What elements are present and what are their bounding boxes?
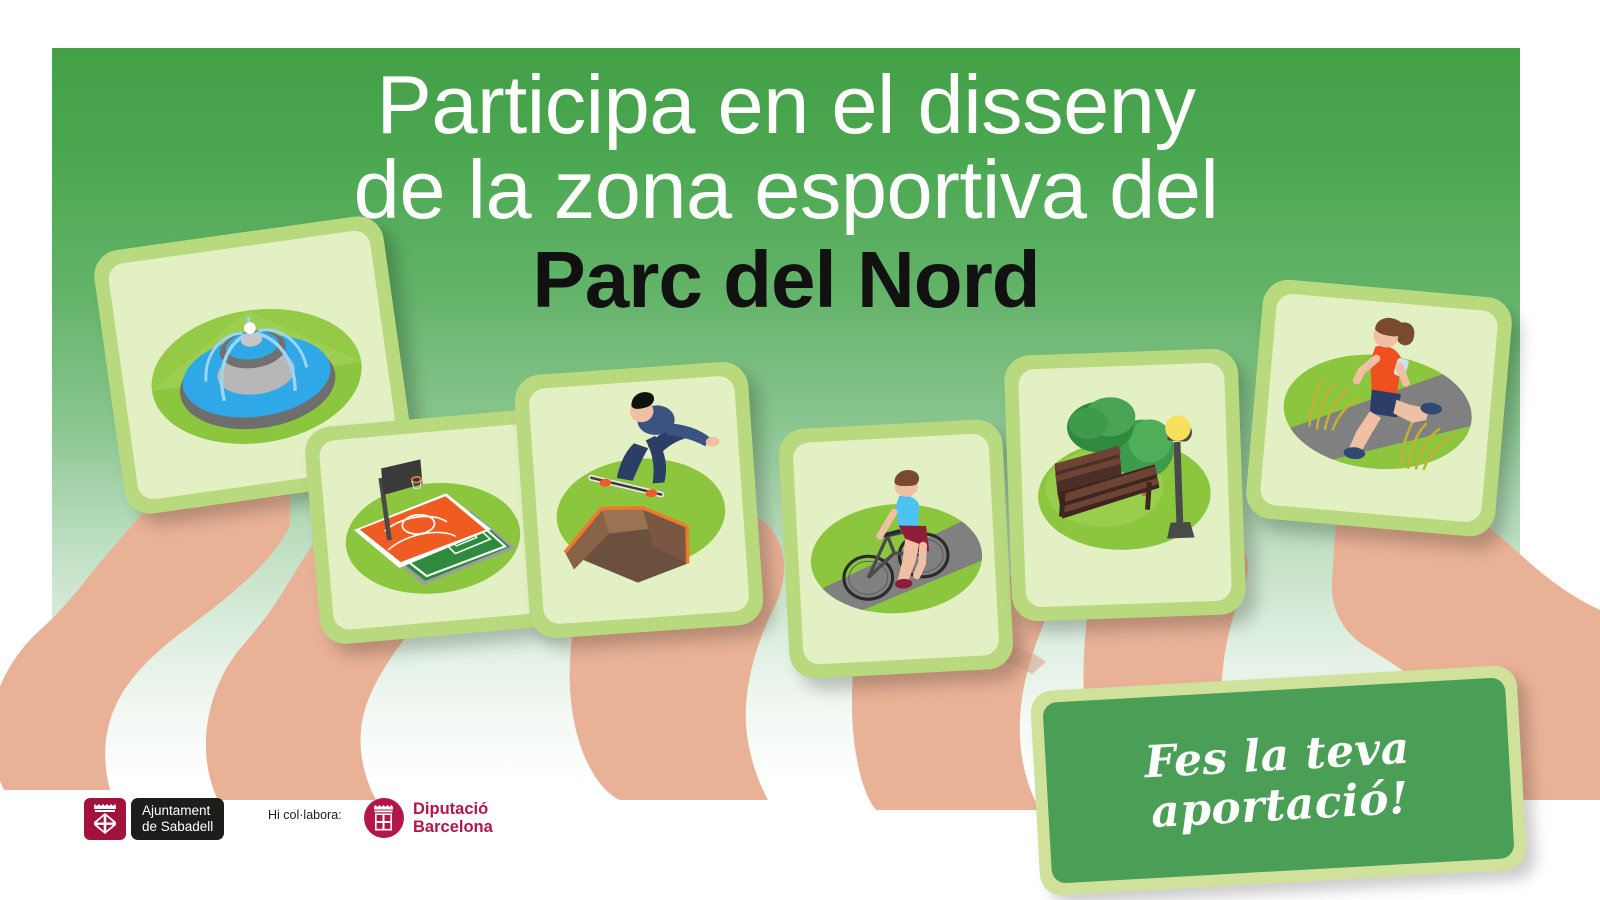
card-bikepath-face bbox=[792, 433, 999, 665]
poster-canvas: Participa en el disseny de la zona espor… bbox=[0, 0, 1600, 900]
diputacio-name: Diputació Barcelona bbox=[413, 800, 493, 836]
card-bikepath[interactable] bbox=[778, 418, 1015, 679]
crest-shield-icon bbox=[91, 803, 119, 835]
skateboarder-icon bbox=[528, 375, 750, 625]
card-courts-face bbox=[318, 423, 546, 631]
ajuntament-line-1: Ajuntament bbox=[142, 803, 213, 819]
card-skatepark[interactable] bbox=[513, 360, 765, 640]
footer-logos: Ajuntament de Sabadell Hi col·labora: Di… bbox=[0, 786, 1600, 900]
park-bench-icon bbox=[1018, 362, 1232, 607]
diputacio-shield-icon bbox=[371, 804, 397, 832]
card-restarea-face bbox=[1018, 362, 1232, 607]
cyclist-icon bbox=[792, 433, 999, 665]
logo-ajuntament-sabadell[interactable]: Ajuntament de Sabadell bbox=[84, 798, 224, 840]
sports-court-icon bbox=[318, 423, 546, 631]
sabadell-crest-icon bbox=[84, 798, 126, 840]
card-runpath[interactable] bbox=[1244, 278, 1514, 539]
logo-diputacio-barcelona[interactable]: Diputació Barcelona bbox=[364, 798, 493, 838]
collaboration-label: Hi col·labora: bbox=[268, 808, 342, 822]
card-runpath-face bbox=[1259, 293, 1499, 524]
card-skatepark-face bbox=[528, 375, 750, 625]
ajuntament-line-2: de Sabadell bbox=[142, 819, 213, 835]
runner-icon bbox=[1259, 293, 1499, 524]
card-restarea[interactable] bbox=[1003, 348, 1246, 622]
ajuntament-name-box: Ajuntament de Sabadell bbox=[131, 798, 224, 840]
diputacio-line-2: Barcelona bbox=[413, 818, 493, 836]
diputacio-crest-icon bbox=[364, 798, 404, 838]
diputacio-line-1: Diputació bbox=[413, 800, 493, 818]
